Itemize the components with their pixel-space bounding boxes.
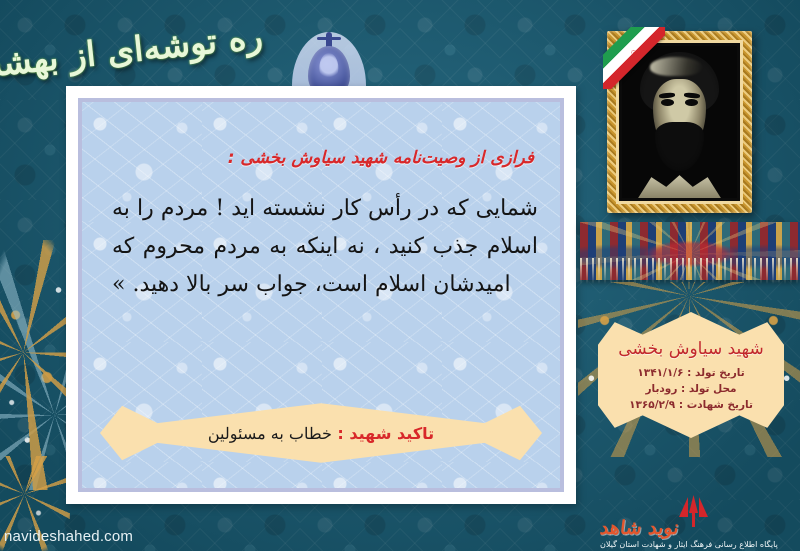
emphasis-ribbon: تاکید شهید : خطاب به مسئولین [100,402,542,464]
testament-body: شمایی که در رأس کار نشسته اید ! مردم را … [112,190,538,303]
navideshahed-brand-word: نوید شاهد [599,519,680,538]
emphasis-value: خطاب به مسئولین [208,424,332,443]
iran-flag-ribbon-icon: ۞ [603,27,665,89]
martyr-birth-date-value: ۱۳۴۱/۱/۶ [637,367,683,379]
martyr-martyrdom-date-row: تاریخ شهادت : ۱۳۶۵/۲/۹ [629,399,753,411]
content-panel-inner: فرازی از وصیت‌نامه شهید سیاوش بخشی : شما… [78,98,564,492]
content-panel: فرازی از وصیت‌نامه شهید سیاوش بخشی : شما… [66,86,576,504]
site-logo[interactable]: ره توشه‌ای از بهشت [16,14,216,90]
carpet-fringe [580,258,800,284]
site-watermark[interactable]: navideshahed.com [4,528,133,545]
martyr-martyrdom-date-value: ۱۳۶۵/۲/۹ [629,399,675,411]
navideshahed-tagline: پایگاه اطلاع رسانی فرهنگ ایثار و شهادت ا… [600,540,778,549]
martyr-birth-place-label: محل تولد : [677,383,736,395]
martyr-info-card: شهید سیاوش بخشی تاریخ تولد : ۱۳۴۱/۱/۶ مح… [598,312,784,438]
emphasis-label: تاکید شهید : [332,424,434,443]
martyr-birth-date-label: تاریخ تولد : [684,367,745,379]
poster-canvas: ره توشه‌ای از بهشت فرازی از وصیت‌نامه شه… [0,0,800,551]
martyr-birth-place-value: رودبار [645,383,677,395]
navideshahed-footer-logo[interactable]: نوید شاهد پایگاه اطلاع رسانی فرهنگ ایثار… [600,491,796,549]
portrait-collar [638,174,721,198]
testament-heading: فرازی از وصیت‌نامه شهید سیاوش بخشی : [228,148,534,168]
martyr-birth-date-row: تاریخ تولد : ۱۳۴۱/۱/۶ [637,367,744,379]
martyr-name: شهید سیاوش بخشی [618,339,764,359]
martyr-martyrdom-date-label: تاریخ شهادت : [675,399,753,411]
emphasis-ribbon-text: تاکید شهید : خطاب به مسئولین [208,424,434,443]
portrait-eye-left [661,99,674,106]
portrait-frame: ۞ [607,31,752,213]
martyr-birth-place-row: محل تولد : رودبار [645,383,736,395]
portrait-beard [655,122,703,171]
